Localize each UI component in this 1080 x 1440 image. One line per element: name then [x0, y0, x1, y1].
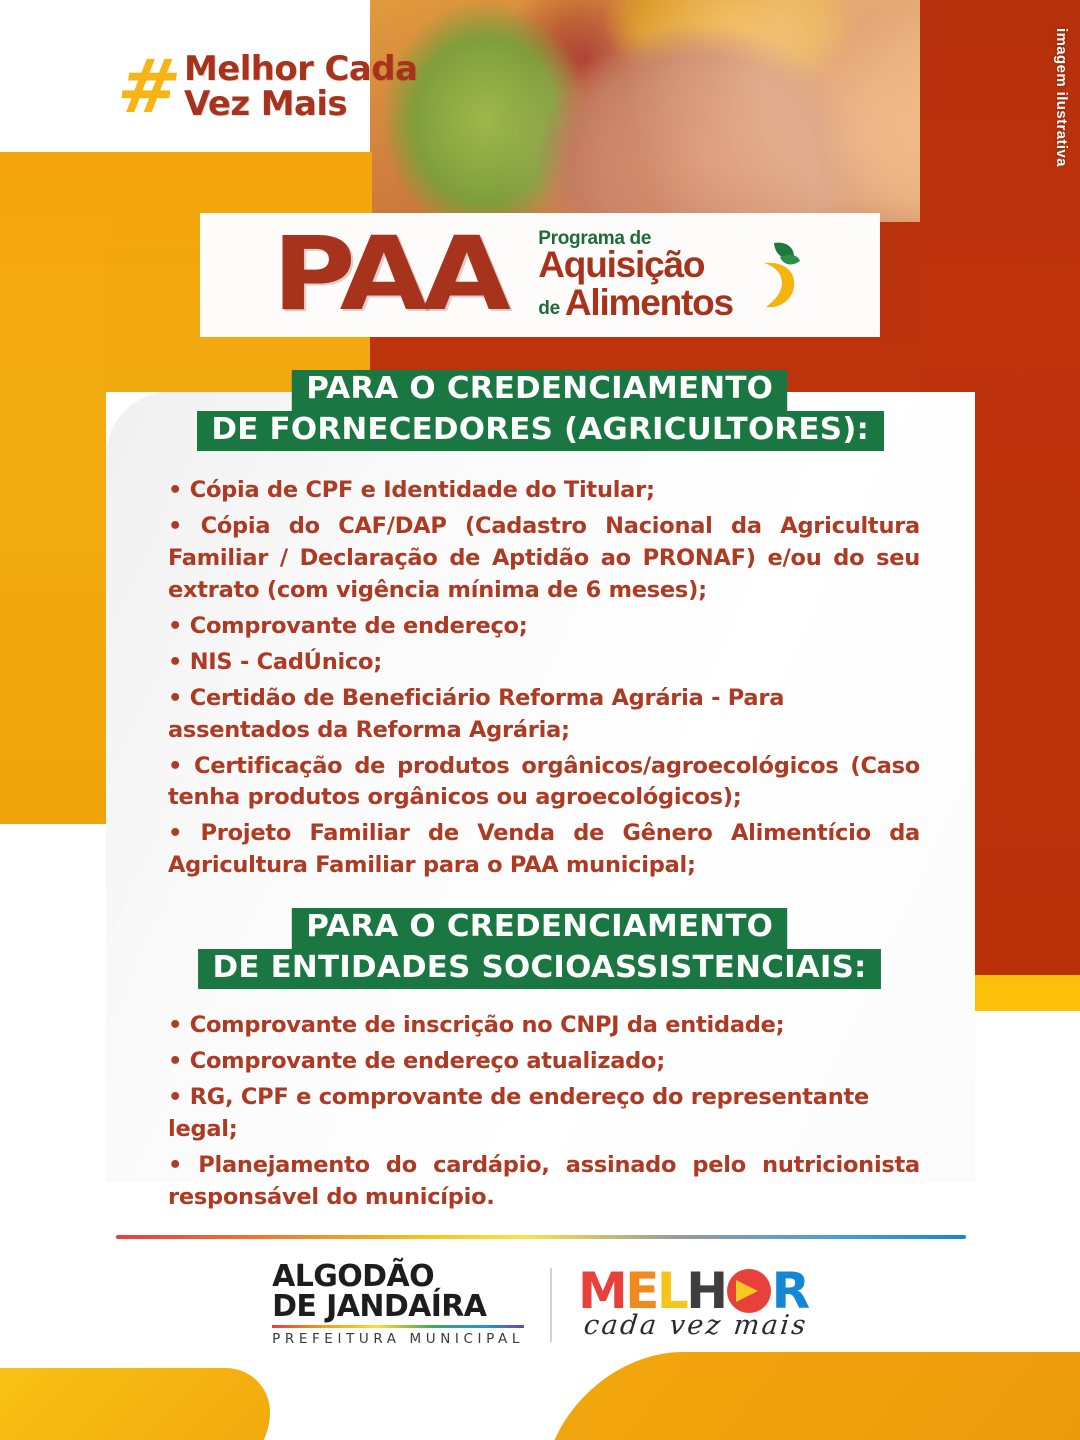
section2-heading-line-2: DE ENTIDADES SOCIOASSISTENCIAIS:	[198, 949, 881, 990]
section1-heading-line-1: PARA O CREDENCIAMENTO	[292, 370, 788, 411]
list-item: • Cópia de CPF e Identidade do Titular;	[168, 475, 920, 507]
paa-subtitle: Programa de Aquisição de Alimentos	[538, 229, 733, 321]
footer-logos: ALGODÃO DE JANDAÍRA PREFEITURA MUNICIPAL…	[0, 1262, 1080, 1347]
list-item: • Certidão de Beneficiário Reforma Agrár…	[168, 683, 920, 747]
hashtag-line-2: Vez Mais	[184, 84, 347, 124]
melhor-letter-l: L	[657, 1269, 686, 1314]
section1-heading: PARA O CREDENCIAMENTO DE FORNECEDORES (A…	[0, 370, 1080, 451]
paa-acronym: PAA	[272, 233, 505, 317]
footer-separator	[550, 1268, 552, 1342]
melhor-letter-h: H	[686, 1269, 725, 1314]
melhor-letter-m: M	[578, 1269, 625, 1314]
melhor-letter-e: E	[625, 1269, 657, 1314]
list-item: • Comprovante de endereço atualizado;	[168, 1046, 920, 1078]
section1-list: • Cópia de CPF e Identidade do Titular; …	[168, 475, 920, 886]
list-item: • NIS - CadÚnico;	[168, 647, 920, 679]
list-item: • Comprovante de endereço;	[168, 611, 920, 643]
section2-list: • Comprovante de inscrição no CNPJ da en…	[168, 1010, 920, 1218]
city-hall-logo: ALGODÃO DE JANDAÍRA PREFEITURA MUNICIPAL	[272, 1262, 524, 1347]
footer-divider	[116, 1235, 966, 1239]
melhor-arrow-circle-icon	[727, 1269, 771, 1313]
hashtag-text: Melhor Cada Vez Mais	[184, 52, 417, 123]
melhor-brand-logo: MELHR cada vez mais	[578, 1269, 808, 1341]
paa-subtitle-line-3: Alimentos	[565, 284, 733, 321]
photo-caption: imagem ilustrativa	[1053, 28, 1070, 167]
list-item: • Certificação de produtos orgânicos/agr…	[168, 751, 920, 815]
city-name-line-1: ALGODÃO	[272, 1262, 524, 1292]
melhor-wordmark: MELHR	[578, 1269, 808, 1314]
background-band-yellow-left	[0, 152, 106, 824]
fruit-leaf-icon	[734, 239, 802, 311]
list-item: • Cópia do CAF/DAP (Cadastro Nacional da…	[168, 511, 920, 607]
melhor-tagline: cada vez mais	[582, 1310, 809, 1341]
list-item: • RG, CPF e comprovante de endereço do r…	[168, 1082, 920, 1146]
list-item: • Planejamento do cardápio, assinado pel…	[168, 1150, 920, 1214]
section2-heading-line-1: PARA O CREDENCIAMENTO	[292, 908, 788, 949]
decor-bottom-right-curve	[547, 1352, 1080, 1440]
hashtag-campaign-logo: # Melhor Cada Vez Mais	[118, 52, 417, 123]
city-logo-rule	[272, 1325, 524, 1328]
poster-root: imagem ilustrativa # Melhor Cada Vez Mai…	[0, 0, 1080, 1440]
list-item: • Projeto Familiar de Venda de Gênero Al…	[168, 818, 920, 882]
paa-subtitle-line-2: Aquisição	[538, 246, 733, 284]
section1-heading-line-2: DE FORNECEDORES (AGRICULTORES):	[197, 411, 884, 452]
hashtag-line-1: Melhor Cada	[184, 49, 417, 89]
decor-bottom-left-curve	[0, 1368, 270, 1440]
city-name-line-2: DE JANDAÍRA	[272, 1292, 524, 1322]
list-item: • Comprovante de inscrição no CNPJ da en…	[168, 1010, 920, 1042]
melhor-letter-r: R	[772, 1269, 808, 1314]
hashtag-icon: #	[114, 56, 185, 119]
paa-subtitle-de: de	[538, 299, 560, 318]
section2-heading: PARA O CREDENCIAMENTO DE ENTIDADES SOCIO…	[0, 908, 1080, 989]
paa-logo-card: PAA Programa de Aquisição de Alimentos	[200, 213, 880, 337]
city-subtitle: PREFEITURA MUNICIPAL	[272, 1331, 524, 1347]
